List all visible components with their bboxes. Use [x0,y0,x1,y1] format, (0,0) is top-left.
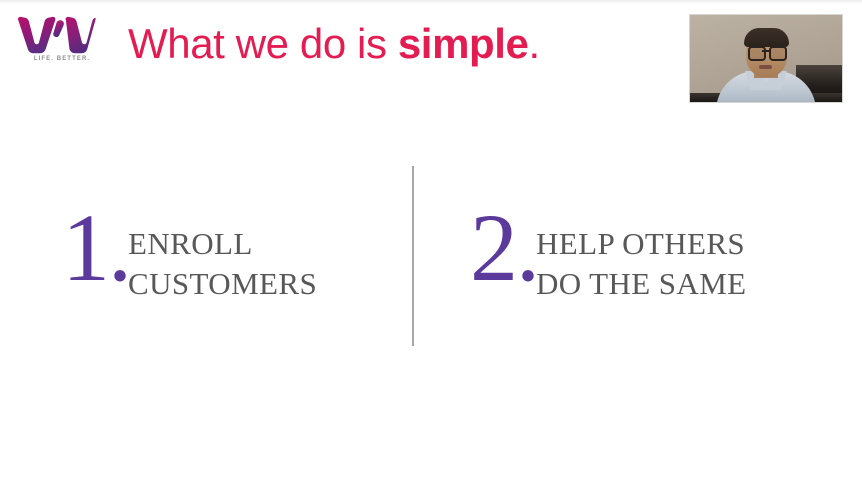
presenter-glasses-bridge [762,50,769,52]
top-edge-divider [0,0,862,4]
slide-title: What we do is simple. [128,18,540,70]
presentation-slide: LIFE. BETTER. What we do is simple. 1. E… [0,0,862,485]
list-item-1-line-2: CUSTOMERS [128,264,317,304]
slide-title-prefix: What we do is [128,20,398,67]
list-item-2: 2. HELP OTHERS DO THE SAME [470,198,747,304]
vertical-divider [412,166,414,346]
viv-logo-mark [16,16,96,54]
presenter-mouth [759,65,772,69]
presenter-video-feed[interactable] [689,14,843,103]
list-item-1-number: 1. [62,200,130,296]
list-item-1-line-1: ENROLL [128,224,317,264]
list-item-1: 1. ENROLL CUSTOMERS [62,198,317,304]
viv-logo-tagline: LIFE. BETTER. [26,56,98,62]
presenter-hair [744,28,789,47]
list-item-2-line-2: DO THE SAME [536,264,747,304]
list-item-2-text: HELP OTHERS DO THE SAME [536,198,747,304]
presenter-glasses-left [748,46,766,61]
viv-logo: LIFE. BETTER. [16,16,102,74]
list-item-2-line-1: HELP OTHERS [536,224,747,264]
list-item-1-text: ENROLL CUSTOMERS [128,198,317,304]
list-item-2-number: 2. [470,200,538,296]
slide-title-emphasis: simple [398,20,529,67]
presenter-glasses-right [769,46,787,61]
slide-title-suffix: . [529,20,540,67]
